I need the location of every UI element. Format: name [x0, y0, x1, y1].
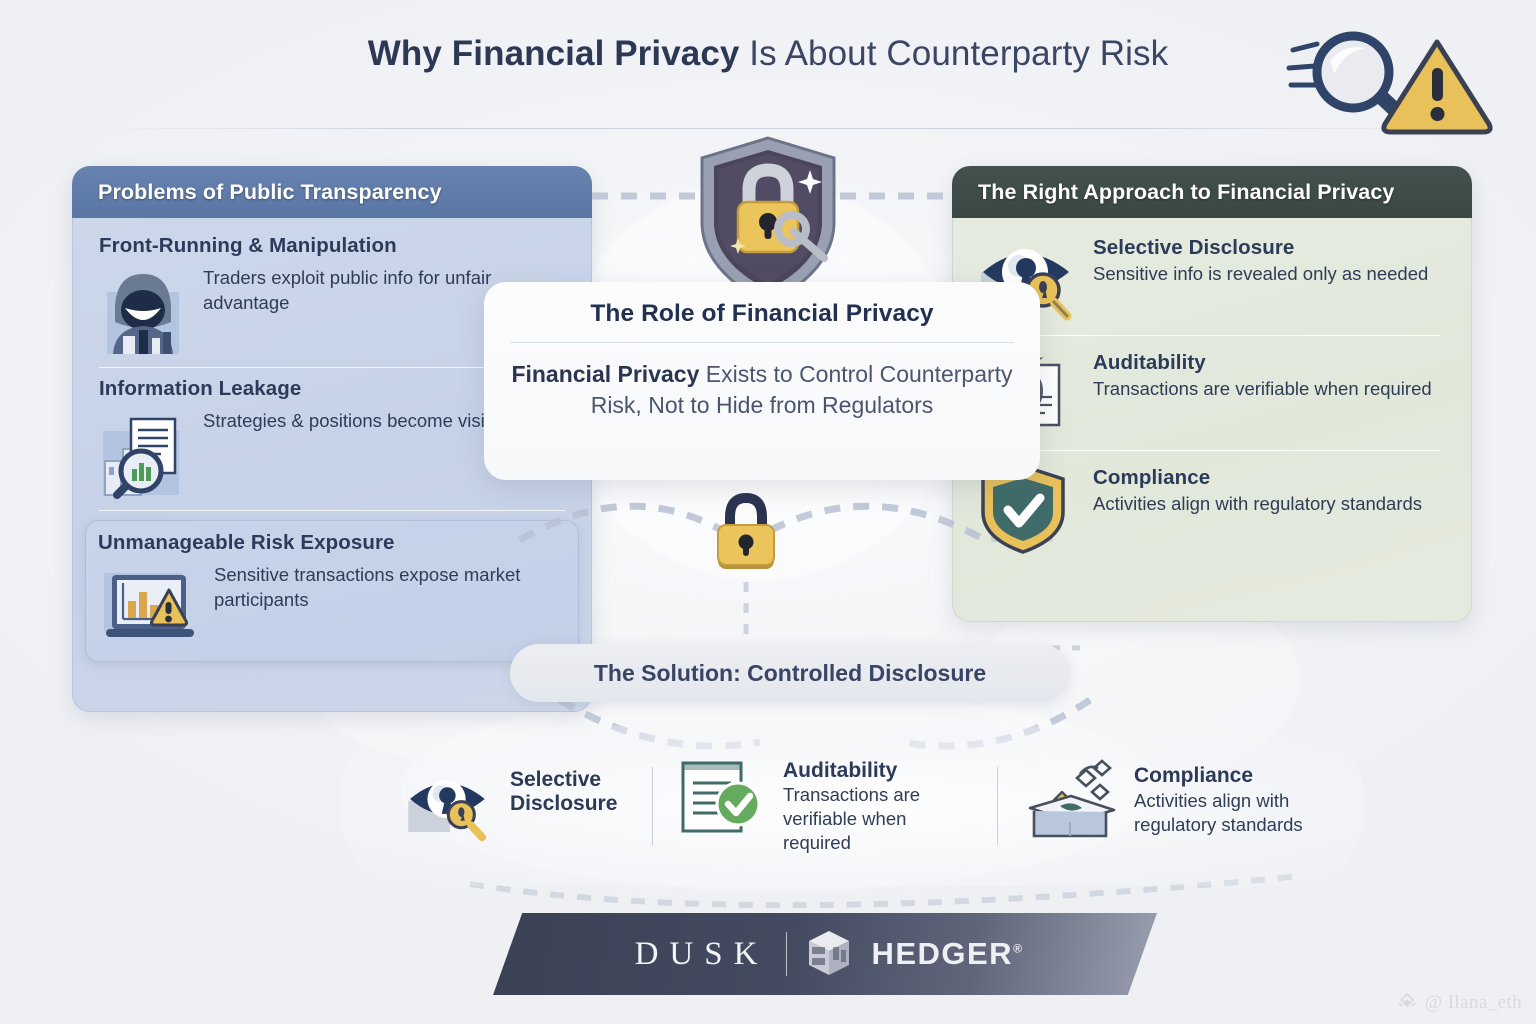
solution-pillars-strip: Selective Disclosure Auditab [340, 726, 1364, 886]
problem-item-risk-exposure: Unmanageable Risk Exposure [85, 520, 579, 662]
approach-item-desc: Activities align with regulatory standar… [1093, 492, 1422, 517]
open-box-icon [1020, 762, 1122, 850]
problem-item-title: Front-Running & Manipulation [95, 234, 569, 258]
laptop-chart-warning-icon [98, 559, 202, 649]
hedger-text: HEDGER [871, 936, 1013, 971]
approach-item-auditability: Auditability Transactions are verifiable… [975, 347, 1449, 439]
approach-item-selective-disclosure: Selective Disclosure Sensitive info is r… [975, 232, 1449, 324]
statement-bold: Financial Privacy [511, 361, 699, 387]
divider [786, 932, 787, 976]
title-bold-part: Why Financial Privacy [368, 34, 740, 73]
center-card-statement: Financial Privacy Exists to Control Coun… [484, 359, 1040, 422]
divider [997, 767, 998, 845]
title-divider [90, 128, 1446, 129]
approach-item-title: Auditability [1093, 351, 1432, 375]
approach-item-compliance: Compliance Activities align with regulat… [975, 462, 1449, 554]
title-icon-group [1285, 28, 1495, 133]
pillar-selective-disclosure: Selective Disclosure [340, 766, 640, 846]
hedger-wordmark: HEDGER® [871, 936, 1023, 972]
dusk-wordmark: DUSK [627, 936, 769, 973]
pillar-desc: Activities align with regulatory standar… [1134, 789, 1340, 837]
solution-label: The Solution: Controlled Disclosure [594, 660, 986, 687]
hooded-trader-icon [95, 262, 191, 358]
padlock-icon [708, 489, 784, 575]
divider [652, 767, 653, 845]
approach-item-desc: Transactions are verifiable when require… [1093, 377, 1432, 402]
document-magnifier-chart-icon [95, 405, 191, 501]
center-card-title: The Role of Financial Privacy [484, 300, 1040, 328]
approach-item-title: Selective Disclosure [1093, 236, 1428, 260]
pillar-title: Auditability [783, 759, 975, 783]
watermark-handle: @ Ilana_eth [1425, 992, 1522, 1014]
diamond-icon [1396, 992, 1418, 1014]
divider [510, 342, 1014, 343]
motion-lines-icon [1289, 44, 1317, 85]
problem-item-title: Unmanageable Risk Exposure [98, 531, 566, 555]
divider [983, 450, 1441, 451]
eye-keyhole-key-icon [402, 766, 498, 846]
pillar-title: Selective Disclosure [510, 768, 630, 815]
title-normal-part: Is About Counterparty Risk [739, 34, 1168, 73]
pillar-auditability: Auditability Transactions are verifiable… [665, 757, 985, 856]
divider [983, 335, 1441, 336]
infographic-canvas: Why Financial Privacy Is About Counterpa… [0, 0, 1536, 1024]
document-green-check-icon [675, 757, 771, 841]
pillar-compliance: Compliance Activities align with regulat… [1010, 762, 1350, 850]
role-of-financial-privacy-card: The Role of Financial Privacy Financial … [484, 282, 1040, 480]
pillar-title: Compliance [1134, 764, 1340, 788]
approach-item-title: Compliance [1093, 466, 1422, 490]
problems-panel-header: Problems of Public Transparency [72, 166, 592, 218]
approach-item-desc: Sensitive info is revealed only as neede… [1093, 262, 1428, 287]
solution-banner: The Solution: Controlled Disclosure [510, 644, 1070, 702]
warning-triangle-icon [1384, 42, 1490, 132]
divider [99, 510, 565, 511]
registered-mark: ® [1013, 942, 1023, 956]
cube-logo-icon [805, 928, 853, 980]
pillar-desc: Transactions are verifiable when require… [783, 783, 975, 855]
watermark: @ Ilana_eth [1396, 992, 1522, 1014]
problem-item-desc: Sensitive transactions expose market par… [214, 559, 566, 613]
footer-brand-bar: DUSK HEDGER® [493, 913, 1157, 995]
approach-panel-header: The Right Approach to Financial Privacy [952, 166, 1472, 218]
